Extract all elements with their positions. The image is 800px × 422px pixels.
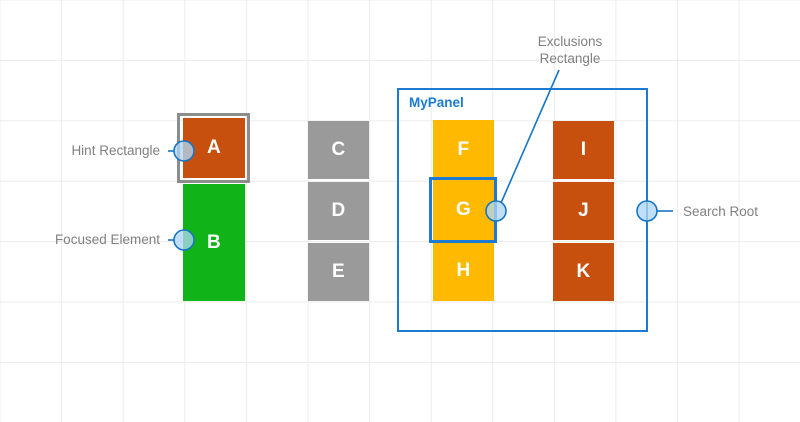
callout-label-search-root: Search Root: [683, 203, 793, 220]
diagram-canvas: ABCDEFGHIJK MyPanel Hint RectangleFocuse…: [0, 0, 800, 422]
block-b[interactable]: B: [183, 184, 245, 301]
block-label: B: [207, 232, 221, 254]
callout-label-focused-element: Focused Element: [28, 231, 160, 248]
hint-rectangle-outline: [177, 113, 250, 183]
callout-label-exclusions-rectangle: Exclusions Rectangle: [516, 33, 624, 67]
exclusions-rectangle-outline: [429, 177, 497, 243]
callout-label-hint-rectangle: Hint Rectangle: [40, 142, 160, 159]
block-c[interactable]: C: [308, 121, 369, 179]
block-label: D: [331, 200, 345, 222]
block-e[interactable]: E: [308, 243, 369, 301]
block-label: E: [332, 261, 345, 283]
block-label: C: [331, 139, 345, 161]
block-d[interactable]: D: [308, 182, 369, 240]
panel-title: MyPanel: [409, 95, 464, 110]
